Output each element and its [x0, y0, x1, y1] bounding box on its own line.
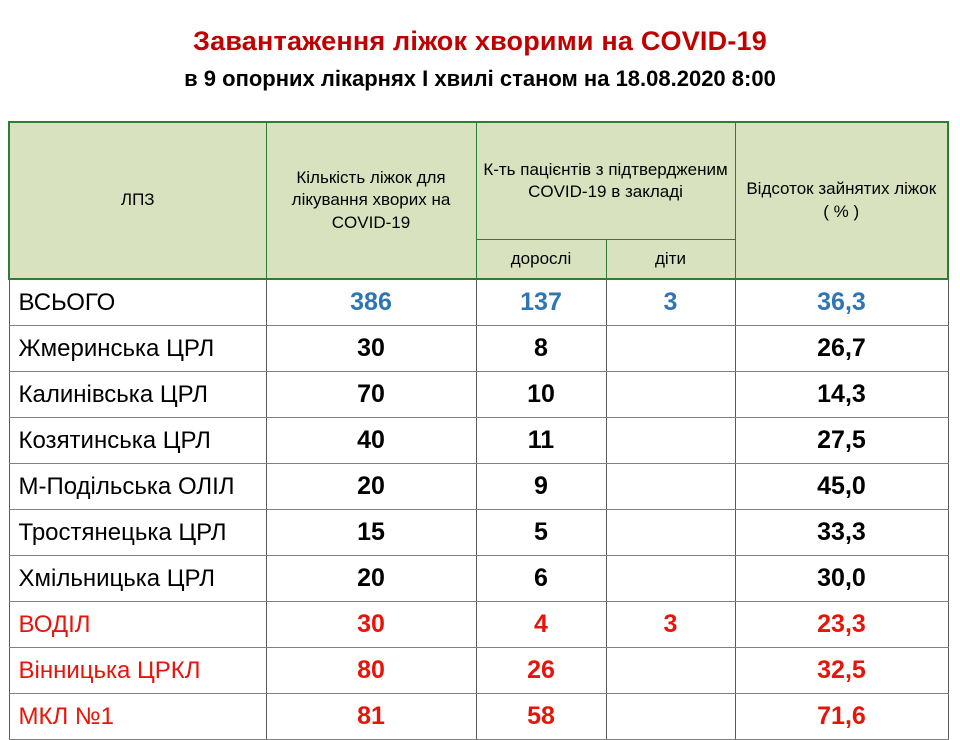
bed-occupancy-table-wrap: ЛПЗ Кількість ліжок для лікування хворих…: [8, 121, 947, 740]
cell-lpz: Тростянецька ЦРЛ: [9, 510, 266, 556]
cell-beds: 20: [266, 556, 476, 602]
column-header-children: діти: [606, 240, 735, 280]
table-row: Хмільницька ЦРЛ20630,0: [9, 556, 948, 602]
table-row: Козятинська ЦРЛ401127,5: [9, 418, 948, 464]
table-row: МКЛ №1815871,6: [9, 694, 948, 740]
cell-percent: 27,5: [735, 418, 948, 464]
cell-children: [606, 464, 735, 510]
cell-lpz: МКЛ №1: [9, 694, 266, 740]
table-row: Жмеринська ЦРЛ30826,7: [9, 326, 948, 372]
cell-lpz: Жмеринська ЦРЛ: [9, 326, 266, 372]
cell-adults: 26: [476, 648, 606, 694]
table-body: ВСЬОГО386137336,3Жмеринська ЦРЛ30826,7Ка…: [9, 279, 948, 740]
cell-lpz: Хмільницька ЦРЛ: [9, 556, 266, 602]
cell-adults: 9: [476, 464, 606, 510]
cell-adults: 5: [476, 510, 606, 556]
cell-lpz: Калинівська ЦРЛ: [9, 372, 266, 418]
cell-adults: 137: [476, 279, 606, 326]
title-block: Завантаження ліжок хворими на COVID-19 в…: [0, 0, 960, 92]
cell-adults: 11: [476, 418, 606, 464]
cell-beds: 70: [266, 372, 476, 418]
table-header-row-main: ЛПЗ Кількість ліжок для лікування хворих…: [9, 122, 948, 240]
cell-beds: 20: [266, 464, 476, 510]
column-header-lpz: ЛПЗ: [9, 122, 266, 279]
table-row: ВСЬОГО386137336,3: [9, 279, 948, 326]
cell-children: 3: [606, 279, 735, 326]
cell-percent: 33,3: [735, 510, 948, 556]
cell-percent: 45,0: [735, 464, 948, 510]
page-subtitle: в 9 опорних лікарнях I хвилі станом на 1…: [0, 66, 960, 92]
cell-percent: 26,7: [735, 326, 948, 372]
cell-beds: 30: [266, 326, 476, 372]
cell-beds: 40: [266, 418, 476, 464]
cell-adults: 58: [476, 694, 606, 740]
cell-children: [606, 326, 735, 372]
cell-percent: 23,3: [735, 602, 948, 648]
cell-lpz: ВОДІЛ: [9, 602, 266, 648]
cell-lpz: Козятинська ЦРЛ: [9, 418, 266, 464]
cell-adults: 4: [476, 602, 606, 648]
table-row: Вінницька ЦРКЛ802632,5: [9, 648, 948, 694]
table-row: Калинівська ЦРЛ701014,3: [9, 372, 948, 418]
table-row: ВОДІЛ304323,3: [9, 602, 948, 648]
cell-children: [606, 648, 735, 694]
column-header-percent: Відсоток зайнятих ліжок ( % ): [735, 122, 948, 279]
cell-lpz: ВСЬОГО: [9, 279, 266, 326]
table-row: Тростянецька ЦРЛ15533,3: [9, 510, 948, 556]
cell-beds: 15: [266, 510, 476, 556]
cell-percent: 30,0: [735, 556, 948, 602]
column-header-adults: дорослі: [476, 240, 606, 280]
cell-children: 3: [606, 602, 735, 648]
cell-percent: 32,5: [735, 648, 948, 694]
cell-children: [606, 694, 735, 740]
cell-beds: 386: [266, 279, 476, 326]
cell-beds: 30: [266, 602, 476, 648]
page-title: Завантаження ліжок хворими на COVID-19: [0, 26, 960, 58]
cell-children: [606, 556, 735, 602]
bed-occupancy-table: ЛПЗ Кількість ліжок для лікування хворих…: [8, 121, 949, 740]
cell-children: [606, 372, 735, 418]
column-header-beds: Кількість ліжок для лікування хворих на …: [266, 122, 476, 279]
cell-lpz: М-Подільська ОЛІЛ: [9, 464, 266, 510]
cell-adults: 10: [476, 372, 606, 418]
cell-adults: 8: [476, 326, 606, 372]
table-row: М-Подільська ОЛІЛ20945,0: [9, 464, 948, 510]
cell-children: [606, 510, 735, 556]
cell-percent: 71,6: [735, 694, 948, 740]
cell-beds: 80: [266, 648, 476, 694]
cell-percent: 14,3: [735, 372, 948, 418]
cell-percent: 36,3: [735, 279, 948, 326]
table-header: ЛПЗ Кількість ліжок для лікування хворих…: [9, 122, 948, 279]
cell-beds: 81: [266, 694, 476, 740]
cell-children: [606, 418, 735, 464]
cell-adults: 6: [476, 556, 606, 602]
column-header-patients-group: К-ть пацієнтів з підтвердженим COVID-19 …: [476, 122, 735, 240]
cell-lpz: Вінницька ЦРКЛ: [9, 648, 266, 694]
